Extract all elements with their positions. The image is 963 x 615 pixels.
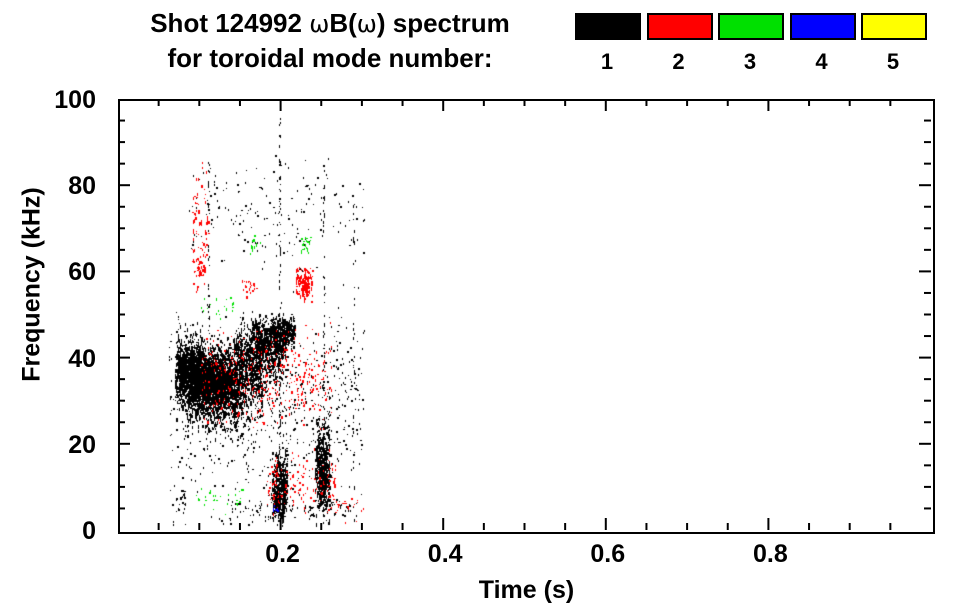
spectrogram-figure: Shot 124992 ωB(ω) spectrum for toroidal … [0,0,963,615]
title-line-1: Shot 124992 ωB(ω) spectrum [95,6,565,41]
y-tick-label-40: 40 [68,347,108,372]
mode-number-legend: 12345 [575,13,940,85]
legend-item-1: 1 [575,13,639,74]
plot-area [118,99,935,534]
omega-symbol-1: ω [309,10,329,38]
x-tick-label-0.2: 0.2 [238,542,328,567]
title-spectrum-text: ) spectrum [377,8,510,38]
figure-title: Shot 124992 ωB(ω) spectrum for toroidal … [95,6,565,75]
legend-swatch-5 [861,13,927,40]
y-axis-tick-labels: 020406080100 [0,99,108,534]
y-tick-label-0: 0 [82,519,108,544]
y-axis-title: Frequency (kHz) [18,85,47,485]
legend-label-3: 3 [718,50,782,74]
legend-label-5: 5 [861,50,925,74]
x-tick-label-0.4: 0.4 [400,542,490,567]
x-axis-tick-labels: 0.20.40.60.8 [118,542,935,576]
legend-label-1: 1 [575,50,639,74]
y-tick-label-100: 100 [54,88,108,113]
legend-label-4: 4 [790,50,854,74]
legend-swatch-3 [718,13,784,40]
title-shot-text: Shot 124992 [150,8,309,38]
y-tick-label-60: 60 [68,260,108,285]
legend-swatch-1 [575,13,641,40]
legend-item-4: 4 [790,13,854,74]
legend-item-2: 2 [647,13,711,74]
title-line-2: for toroidal mode number: [95,41,565,75]
legend-item-3: 3 [718,13,782,74]
omega-symbol-2: ω [357,10,377,38]
legend-swatch-2 [647,13,713,40]
title-b-open: B( [329,8,356,38]
spectrogram-canvas [120,101,933,532]
legend-label-2: 2 [647,50,711,74]
x-axis-title: Time (s) [118,576,935,605]
x-tick-label-0.6: 0.6 [563,542,653,567]
y-tick-label-20: 20 [68,433,108,458]
legend-swatch-4 [790,13,856,40]
x-tick-label-0.8: 0.8 [725,542,815,567]
legend-item-5: 5 [861,13,925,74]
y-tick-label-80: 80 [68,174,108,199]
